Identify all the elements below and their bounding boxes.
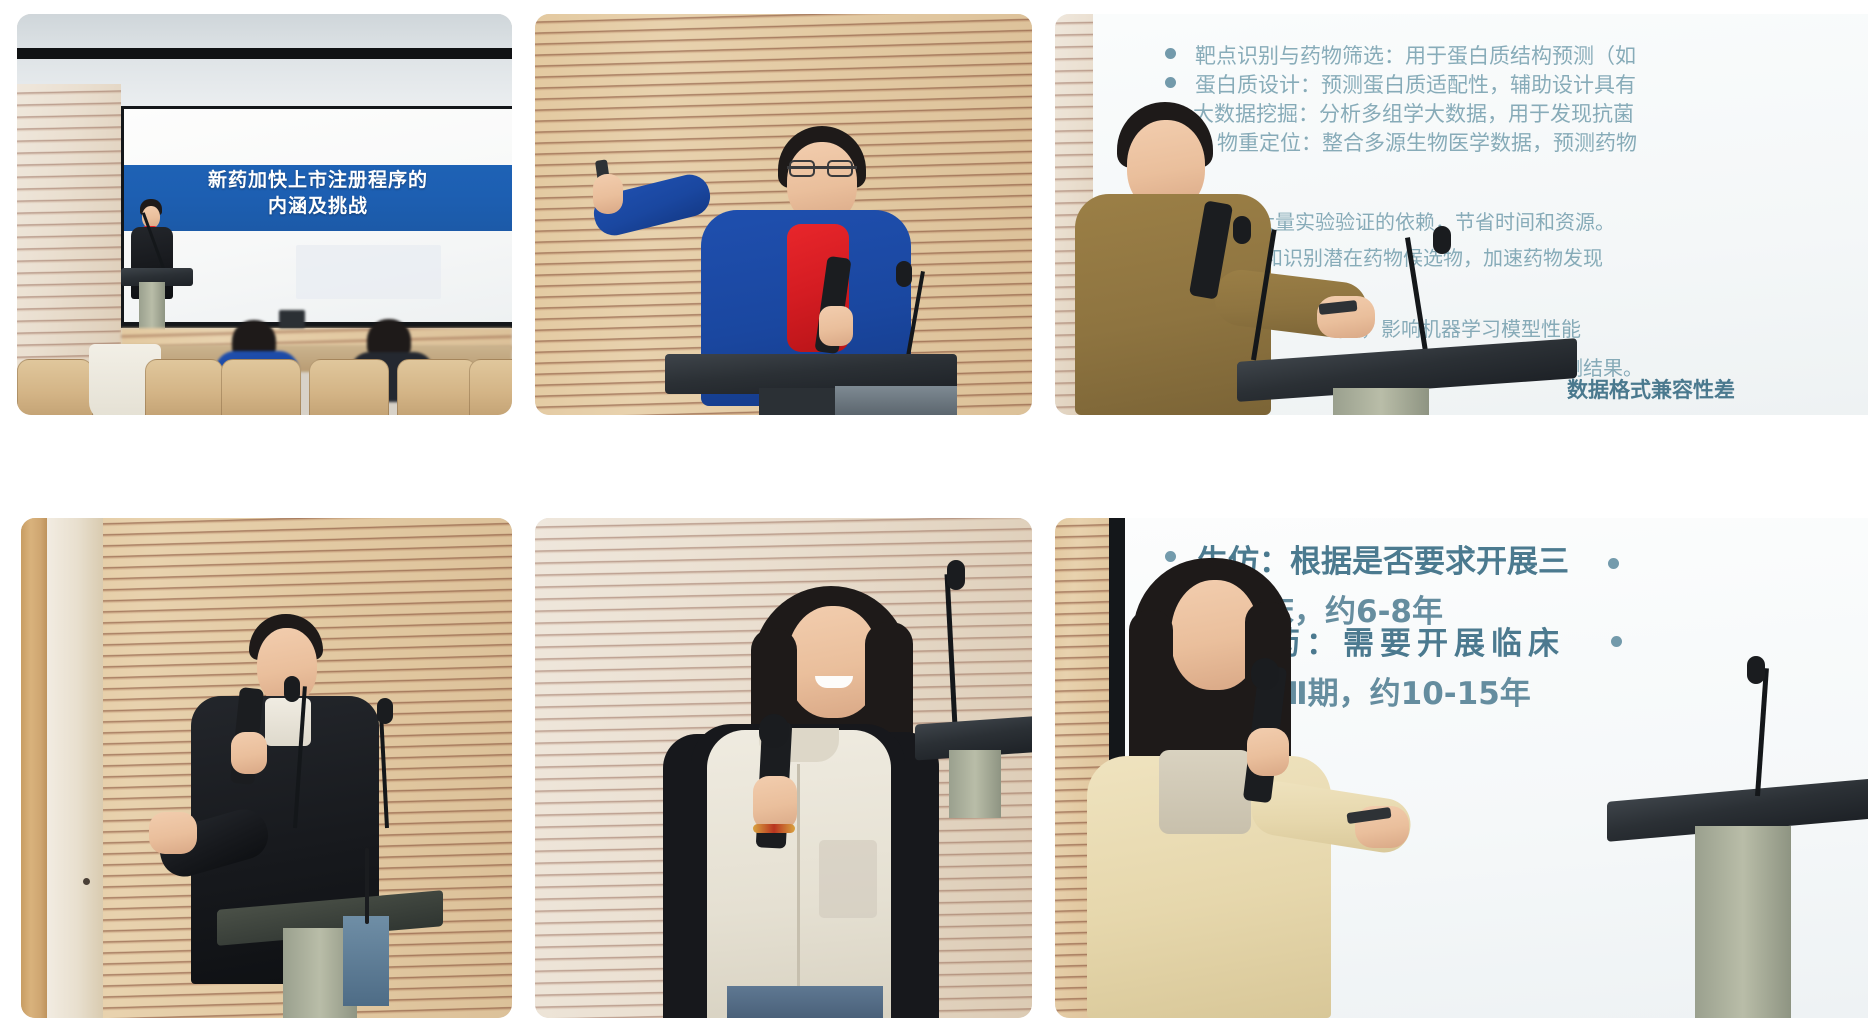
bullet-dot-1 [1165, 551, 1176, 562]
lectern-column [949, 750, 1001, 818]
photo-card-speaker-white-vest-smiling[interactable] [535, 518, 1032, 1018]
slide-body-1: 但大量实验验证的依赖，节省时间和资源。 [1235, 206, 1615, 235]
slide-bullet-4: /Ⅲ期，约10-15年 [1267, 668, 1531, 713]
slide-bullet-3: 大数据挖掘：分析多组学大数据，用于发现抗菌 [1193, 98, 1634, 128]
podium-mic-head [947, 560, 965, 590]
photo-card-speaker-tan-coat-red-scarf[interactable]: 靶点识别与药物筛选：用于蛋白质结构预测（如 蛋白质设计：预测蛋白质适配性，辅助设… [1055, 14, 1868, 415]
vest-pocket [819, 840, 877, 918]
slide-subtitle-block [296, 245, 441, 299]
photo-card-speaker-cream-jacket-with-slide[interactable]: 生仿：根据是否要求开展三 期临床，约6-8年 药：需要开展临床 /Ⅲ期，约10-… [1055, 518, 1868, 1018]
speaker-smile [815, 676, 853, 688]
handheld-mic-head [759, 714, 789, 748]
handheld-mic-head [1251, 658, 1279, 690]
photo-card-speaker-black-jacket-at-lectern[interactable] [21, 518, 512, 1018]
lectern-column [1333, 388, 1429, 415]
speaker-hand [753, 776, 797, 830]
door-frame [47, 518, 103, 1018]
podium-mic-head-1 [1233, 216, 1251, 244]
bullet-dot-2 [1165, 77, 1176, 88]
podium-mic-head-2 [1433, 226, 1451, 254]
bullet-dot-1 [1165, 48, 1176, 59]
photo-gallery: 新药加快上市注册程序的 内涵及挑战 [0, 0, 1868, 1023]
speaker-glasses-lens-right [827, 160, 853, 177]
bracelet [753, 824, 795, 833]
speaker-raised-hand [593, 174, 623, 214]
lectern-base-panel [835, 386, 957, 415]
lectern-cable [365, 848, 369, 924]
scene-speaker-vest [535, 518, 1032, 1018]
chair-5 [397, 359, 477, 415]
bullet-dot-3 [1608, 558, 1619, 569]
lectern-side-panel [343, 916, 389, 1006]
photo-card-speaker-blue-jacket-red-scarf[interactable] [535, 14, 1032, 415]
podium-mic-head-2 [377, 698, 393, 724]
wall-post-left [21, 518, 49, 1018]
lectern-column [1695, 826, 1791, 1018]
slide-bullet-2: 蛋白质设计：预测蛋白质适配性，辅助设计具有 [1195, 69, 1636, 99]
slide-bullet-3: 药：需要开展临床 [1269, 618, 1565, 663]
lectern-stem [759, 388, 841, 415]
slide-title-line-1: 新药加快上市注册程序的 [124, 169, 512, 192]
speaker-mic-hand [231, 732, 267, 774]
vest-zipper [797, 764, 800, 1018]
chair-4 [309, 359, 389, 415]
photo-card-opening-keynote-wide-shot[interactable]: 新药加快上市注册程序的 内涵及挑战 [17, 14, 512, 415]
podium-mic-head [896, 261, 912, 287]
chair-2 [145, 359, 223, 415]
slide-body-5: 数据格式兼容性差 [1567, 374, 1735, 404]
scene-speaker-tan: 靶点识别与药物筛选：用于蛋白质结构预测（如 蛋白质设计：预测蛋白质适配性，辅助设… [1055, 14, 1868, 415]
scene-conference-room: 新药加快上市注册程序的 内涵及挑战 [17, 14, 512, 415]
bullet-dot-4 [1611, 636, 1622, 647]
chair-6 [469, 359, 512, 415]
scene-speaker-blue [535, 14, 1032, 415]
speaker-hand-open [149, 812, 197, 854]
slide-bullet-1: 靶点识别与药物筛选：用于蛋白质结构预测（如 [1195, 40, 1636, 70]
scene-speaker-black [21, 518, 512, 1018]
slide-body-3: 缺，影响机器学习模型性能 [1341, 313, 1581, 342]
speaker-mic-hand [1247, 728, 1289, 776]
speaker-hand [819, 306, 853, 346]
door-handle [83, 878, 90, 885]
speaker-glasses-lens-left [789, 160, 815, 177]
podium-mic-head [1747, 656, 1765, 684]
chair-1 [17, 359, 93, 415]
ceiling-rail [17, 48, 512, 59]
jeans [727, 986, 883, 1018]
scene-speaker-cream: 生仿：根据是否要求开展三 期临床，约6-8年 药：需要开展临床 /Ⅲ期，约10-… [1055, 518, 1868, 1018]
podium-mic-head-1 [284, 676, 300, 702]
speaker-inner-top [1159, 750, 1251, 834]
slide-bullet-4: 物重定位：整合多源生物医学数据，预测药物 [1217, 127, 1637, 157]
chair-3 [221, 359, 301, 415]
audience-phone [279, 310, 305, 328]
